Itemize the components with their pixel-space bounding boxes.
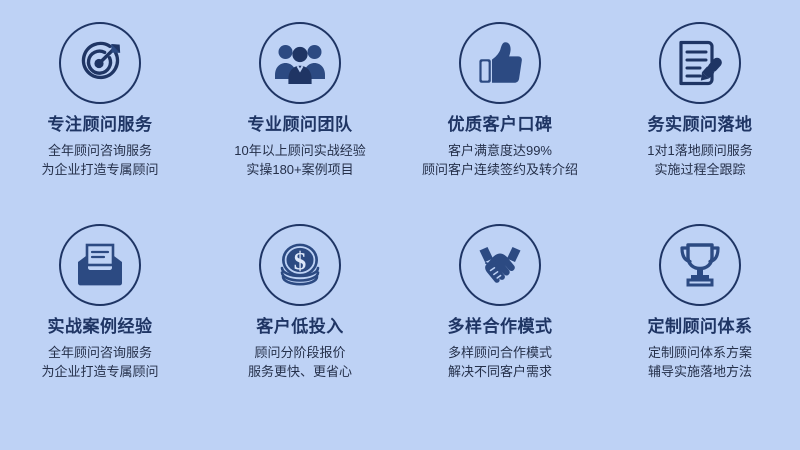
card-desc-line-1: 全年顾问咨询服务 (41, 141, 158, 160)
card-desc-line-1: 客户满意度达99% (422, 141, 578, 160)
card-desc-line-2: 解决不同客户需求 (448, 362, 552, 381)
card-description: 1对1落地顾问服务 实施过程全跟踪 (647, 141, 752, 179)
card-description: 顾问分阶段报价 服务更快、更省心 (248, 343, 352, 381)
card-title: 专业顾问团队 (248, 115, 353, 135)
feature-card-zhuanzhu-guwen-fuwu[interactable]: 专注顾问服务 全年顾问咨询服务 为企业打造专属顾问 (0, 22, 200, 224)
handshake-icon (459, 224, 541, 306)
feature-card-wushi-guwen-luodi[interactable]: 务实顾问落地 1对1落地顾问服务 实施过程全跟踪 (600, 22, 800, 224)
card-desc-line-2: 为企业打造专属顾问 (41, 160, 158, 179)
card-description: 全年顾问咨询服务 为企业打造专属顾问 (41, 343, 158, 381)
card-desc-line-1: 全年顾问咨询服务 (41, 343, 158, 362)
card-desc-line-2: 为企业打造专属顾问 (41, 362, 158, 381)
card-description: 客户满意度达99% 顾问客户连续签约及转介绍 (422, 141, 578, 179)
feature-card-shizhan-anli-jingyan[interactable]: 实战案例经验 全年顾问咨询服务 为企业打造专属顾问 (0, 224, 200, 426)
card-description: 多样顾问合作模式 解决不同客户需求 (448, 343, 552, 381)
thumbs-up-icon (459, 22, 541, 104)
card-description: 定制顾问体系方案 辅导实施落地方法 (648, 343, 752, 381)
card-desc-line-2: 服务更快、更省心 (248, 362, 352, 381)
card-title: 务实顾问落地 (648, 115, 753, 135)
card-title: 定制顾问体系 (648, 317, 753, 337)
card-desc-line-2: 实操180+案例项目 (234, 160, 365, 179)
feature-card-duoyang-hezuo-moshi[interactable]: 多样合作模式 多样顾问合作模式 解决不同客户需求 (400, 224, 600, 426)
inbox-tray-icon (59, 224, 141, 306)
trophy-icon (659, 224, 741, 306)
document-pencil-icon (659, 22, 741, 104)
card-desc-line-1: 1对1落地顾问服务 (647, 141, 752, 160)
feature-card-kehu-di-touru[interactable]: $ 客户低投入 顾问分阶段报价 服务更快、更省心 (200, 224, 400, 426)
feature-card-grid: 专注顾问服务 全年顾问咨询服务 为企业打造专属顾问 (0, 0, 800, 450)
target-arrow-icon (59, 22, 141, 104)
card-title: 客户低投入 (256, 317, 344, 337)
card-title: 多样合作模式 (448, 317, 553, 337)
card-desc-line-2: 实施过程全跟踪 (647, 160, 752, 179)
feature-card-zhuanye-guwen-tuandui[interactable]: 专业顾问团队 10年以上顾问实战经验 实操180+案例项目 (200, 22, 400, 224)
card-desc-line-1: 定制顾问体系方案 (648, 343, 752, 362)
card-description: 全年顾问咨询服务 为企业打造专属顾问 (41, 141, 158, 179)
feature-grid-page: 专注顾问服务 全年顾问咨询服务 为企业打造专属顾问 (0, 0, 800, 450)
card-title: 实战案例经验 (48, 317, 153, 337)
coin-dollar-icon: $ (259, 224, 341, 306)
card-description: 10年以上顾问实战经验 实操180+案例项目 (234, 141, 365, 179)
card-desc-line-1: 多样顾问合作模式 (448, 343, 552, 362)
card-desc-line-1: 顾问分阶段报价 (248, 343, 352, 362)
card-title: 优质客户口碑 (448, 115, 553, 135)
feature-card-dingzhi-guwen-tixi[interactable]: 定制顾问体系 定制顾问体系方案 辅导实施落地方法 (600, 224, 800, 426)
card-desc-line-2: 辅导实施落地方法 (648, 362, 752, 381)
card-desc-line-1: 10年以上顾问实战经验 (234, 141, 365, 160)
svg-text:$: $ (294, 249, 307, 276)
feature-card-youzhi-kehu-koubei[interactable]: 优质客户口碑 客户满意度达99% 顾问客户连续签约及转介绍 (400, 22, 600, 224)
card-desc-line-2: 顾问客户连续签约及转介绍 (422, 160, 578, 179)
team-people-icon (259, 22, 341, 104)
card-title: 专注顾问服务 (48, 115, 153, 135)
